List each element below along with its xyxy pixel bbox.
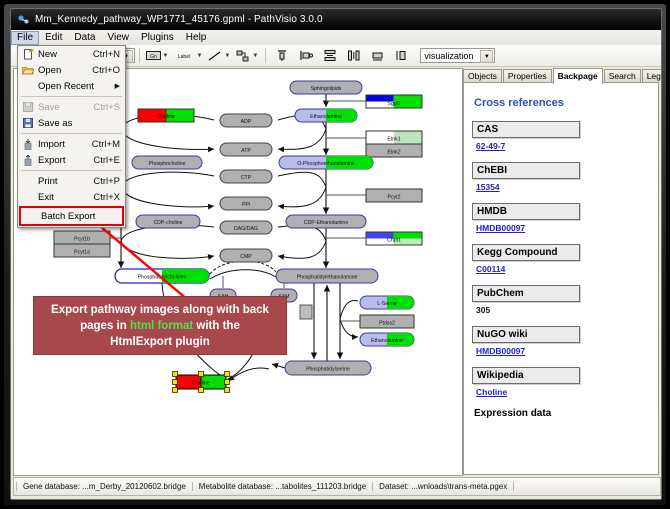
xref-value-chebi[interactable]: 15354 — [476, 182, 650, 192]
new-document-icon — [18, 49, 38, 60]
pathvisio-app-icon — [17, 13, 30, 26]
menu-separator — [21, 170, 122, 171]
svg-text:Sgpl1: Sgpl1 — [387, 101, 400, 107]
backpage-panel[interactable]: Cross references CAS 62-49-7 ChEBI 15354… — [463, 82, 659, 475]
svg-text:Gn: Gn — [150, 54, 157, 60]
callout-line-2c: with the — [193, 320, 240, 332]
menu-item-batch-export-label: Batch Export — [41, 211, 122, 222]
same-height-icon[interactable] — [394, 48, 410, 64]
menu-item-print-label: Print — [38, 176, 93, 187]
menu-item-print-accel: Ctrl+P — [93, 176, 125, 187]
expression-data-heading: Expression data — [474, 408, 650, 419]
tab-objects[interactable]: Objects — [463, 69, 502, 83]
xref-value-pubchem: 305 — [476, 305, 650, 315]
tab-properties[interactable]: Properties — [503, 69, 552, 83]
menu-view[interactable]: View — [101, 31, 135, 45]
menu-item-open-recent-label: Open Recent — [38, 81, 115, 92]
menu-item-export[interactable]: Export Ctrl+E — [18, 152, 125, 168]
menu-separator — [21, 133, 122, 134]
menu-separator — [21, 96, 122, 97]
metabolite-cmp: CMP — [220, 249, 272, 262]
svg-text:O-Phosphoethanolamine: O-Phosphoethanolamine — [297, 161, 355, 167]
metabolite-cdp-choline: CDP-choline — [136, 215, 200, 228]
metabolite-phosphatidylserine: Phosphatidylserine — [285, 361, 371, 375]
chevron-down-icon[interactable]: ▼ — [480, 50, 493, 63]
visualization-combo[interactable]: visualization ▼ — [420, 48, 495, 63]
metabolite-l-serine: L-Serine — [360, 296, 414, 309]
svg-text:Pcyt1a: Pcyt1a — [74, 250, 90, 256]
xref-value-cas[interactable]: 62-49-7 — [476, 141, 650, 151]
xref-db-pubchem: PubChem — [472, 285, 580, 302]
svg-text:CDP-Ethanolamine: CDP-Ethanolamine — [304, 220, 349, 226]
screenshot-root: Mm_Kennedy_pathway_WP1771_45176.gpml - P… — [0, 0, 670, 509]
svg-text:Etnk1: Etnk1 — [387, 137, 400, 143]
metabolite-adp: ADP — [220, 114, 272, 127]
status-metabolite-database: Metabolite database: ...tabolites_111203… — [193, 482, 373, 491]
gene-box-chpt1: Chpt1 — [366, 232, 422, 245]
xref-db-hmdb: HMDB — [472, 203, 580, 220]
tab-search[interactable]: Search — [604, 69, 641, 83]
metabolite-sphingolipids: Sphingolipids — [290, 81, 362, 94]
menu-edit[interactable]: Edit — [39, 31, 68, 45]
align-left-icon[interactable] — [298, 48, 314, 64]
svg-text:Chpt1: Chpt1 — [387, 238, 401, 244]
datanode-tool-icon[interactable]: Gn — [146, 48, 162, 64]
xref-db-kegg-compound: Kegg Compound — [472, 244, 580, 261]
menu-item-exit[interactable]: Exit Ctrl+X — [18, 189, 125, 205]
menu-item-export-label: Export — [38, 155, 93, 166]
metabolite-choline-bottom-selected: Choline — [173, 372, 230, 393]
xref-value-hmdb[interactable]: HMDB00097 — [476, 223, 650, 233]
menu-help[interactable]: Help — [180, 31, 213, 45]
menu-item-exit-label: Exit — [38, 192, 93, 203]
xref-db-nugo-wiki: NuGO wiki — [472, 326, 580, 343]
svg-text:CTP: CTP — [241, 175, 252, 181]
annotation-callout-text: Export pathway images along with back pa… — [45, 302, 275, 350]
chevron-down-icon[interactable]: ▼ — [163, 53, 169, 59]
align-top-icon[interactable] — [274, 48, 290, 64]
open-folder-icon — [18, 65, 38, 75]
menu-item-import[interactable]: Import Ctrl+M — [18, 136, 125, 152]
status-dataset: Dataset: ...wnloads\trans-meta.pgex — [373, 482, 514, 491]
metabolite-phosphatidylcholines: Phosphatidylcholines — [115, 269, 209, 283]
metabolite-cdp-ethanolamine: CDP-Ethanolamine — [286, 215, 366, 228]
svg-text:Ethanolamine: Ethanolamine — [371, 338, 403, 344]
svg-text:CMP: CMP — [240, 254, 252, 260]
import-icon — [18, 139, 38, 150]
metabolite-dagdag: DAG/DAG — [220, 221, 272, 234]
gene-box-etnk2: Etnk2 — [366, 144, 422, 157]
menu-item-new[interactable]: New Ctrl+N — [18, 46, 125, 62]
svg-text:Phosphatidylserine: Phosphatidylserine — [306, 367, 350, 373]
chevron-down-icon[interactable]: ▼ — [196, 53, 202, 59]
chevron-right-icon: ▶ — [115, 82, 125, 90]
menu-item-open-label: Open — [38, 65, 92, 76]
svg-text:PPi: PPi — [242, 202, 250, 208]
menu-item-import-label: Import — [38, 139, 92, 150]
chevron-down-icon[interactable]: ▼ — [224, 53, 230, 59]
gene-box-pcyt2: Pcyt2 — [366, 189, 422, 202]
tab-backpage[interactable]: Backpage — [553, 68, 603, 84]
metabolite-phosphocholine: Phosphocholine — [132, 156, 202, 169]
svg-text:Choline: Choline — [192, 381, 210, 387]
cross-references-heading: Cross references — [474, 97, 650, 109]
svg-text:Pcyt1b: Pcyt1b — [74, 237, 90, 243]
svg-text:Choline: Choline — [157, 114, 175, 120]
gene-box-pcyt1a: Pcyt1a — [54, 244, 110, 257]
gene-box-ptdss2: Ptdss2 — [360, 315, 414, 328]
svg-text:CDP-choline: CDP-choline — [153, 220, 182, 226]
svg-text:Phosphocholine: Phosphocholine — [149, 161, 186, 167]
label-tool-icon[interactable]: Label — [173, 48, 195, 64]
sidebar-tabs[interactable]: Objects Properties Backpage Search Legen… — [463, 68, 659, 83]
save-as-icon — [18, 118, 38, 128]
menu-plugins[interactable]: Plugins — [135, 31, 180, 45]
distribute-horizontal-icon[interactable] — [346, 48, 362, 64]
svg-text:Sphingolipids: Sphingolipids — [311, 86, 342, 92]
svg-text:Label: Label — [178, 54, 190, 60]
svg-text:Ethanolamine: Ethanolamine — [310, 114, 342, 120]
same-width-icon[interactable] — [370, 48, 386, 64]
gene-box-etnk1: Etnk1 — [366, 131, 422, 144]
metabolite-ethanolamine-top: Ethanolamine — [295, 109, 357, 122]
export-icon — [18, 155, 38, 166]
menu-item-save-accel: Ctrl+S — [93, 102, 125, 113]
window-title: Mm_Kennedy_pathway_WP1771_45176.gpml - P… — [35, 14, 323, 25]
toolbar-separator — [265, 48, 266, 63]
svg-text:DAG/DAG: DAG/DAG — [234, 226, 258, 232]
menu-item-new-accel: Ctrl+N — [93, 49, 125, 60]
xref-value-wikipedia[interactable]: Choline — [476, 387, 650, 397]
menu-item-save-as-label: Save as — [38, 118, 120, 129]
menu-item-open-recent[interactable]: Open Recent ▶ — [18, 78, 125, 94]
tab-legend[interactable]: Legend — [642, 69, 662, 83]
svg-text:Etnk2: Etnk2 — [387, 150, 400, 156]
save-disk-icon — [18, 102, 38, 112]
svg-text:Pcyt2: Pcyt2 — [388, 195, 401, 201]
menu-item-new-label: New — [38, 49, 93, 60]
menu-item-batch-export[interactable]: Batch Export — [19, 206, 124, 226]
callout-highlight: html format — [130, 320, 193, 332]
metabolite-choline-top: Choline — [138, 109, 194, 122]
xref-value-kegg-compound[interactable]: C00114 — [476, 264, 650, 274]
svg-text:ADP: ADP — [241, 119, 252, 125]
svg-text:Ptdss2: Ptdss2 — [379, 321, 395, 327]
menu-item-export-accel: Ctrl+E — [93, 155, 125, 166]
callout-line-1: Export pathway images along with back — [51, 304, 269, 316]
svg-text:L-Serine: L-Serine — [377, 301, 397, 307]
metabolite-ctp: CTP — [220, 170, 272, 183]
gene-box-sgpl1: Sgpl1 — [366, 95, 422, 108]
menu-item-exit-accel: Ctrl+X — [93, 192, 125, 203]
callout-line-3: HtmlExport plugin — [110, 336, 210, 348]
metabolite-atp: ATP — [220, 143, 272, 156]
interaction-tool-icon[interactable] — [235, 48, 251, 64]
xref-db-wikipedia: Wikipedia — [472, 367, 580, 384]
callout-line-2a: pages in — [80, 320, 130, 332]
title-bar: Mm_Kennedy_pathway_WP1771_45176.gpml - P… — [11, 9, 661, 30]
chevron-down-icon[interactable]: ▼ — [252, 53, 258, 59]
menu-item-import-accel: Ctrl+M — [92, 139, 125, 150]
menu-item-open-accel: Ctrl+O — [92, 65, 125, 76]
metabolite-o-phosphoethanolamine: O-Phosphoethanolamine — [279, 156, 373, 169]
gene-box-pcyt1b: Pcyt1b — [54, 231, 110, 244]
metabolite-phosphatidylethanolamine: Phosphatidylethanolamine — [276, 269, 378, 283]
menu-item-save[interactable]: Save Ctrl+S — [18, 99, 125, 115]
menu-bar[interactable]: File Edit Data View Plugins Help — [11, 30, 661, 46]
xref-db-cas: CAS — [472, 121, 580, 138]
metabolite-ethanolamine-bottom: Ethanolamine — [360, 333, 414, 346]
svg-text:ATP: ATP — [241, 148, 251, 154]
toolbar-separator — [139, 48, 140, 63]
visualization-value: visualization — [424, 51, 473, 61]
xref-value-nugo-wiki[interactable]: HMDB00097 — [476, 346, 650, 356]
annotation-callout: Export pathway images along with back pa… — [33, 296, 287, 355]
side-panel: Objects Properties Backpage Search Legen… — [463, 68, 659, 474]
menu-item-save-label: Save — [38, 102, 93, 113]
menu-item-open[interactable]: Open Ctrl+O — [18, 62, 125, 78]
menu-item-print[interactable]: Print Ctrl+P — [18, 173, 125, 189]
svg-text:Phosphatidylethanolamine: Phosphatidylethanolamine — [297, 275, 358, 281]
menu-data[interactable]: Data — [68, 31, 101, 45]
status-bar: Gene database: ...m_Derby_20120602.bridg… — [13, 477, 661, 496]
menu-file[interactable]: File — [11, 31, 39, 45]
file-menu-dropdown[interactable]: New Ctrl+N Open Ctrl+O Open Recent ▶ Sav… — [17, 45, 126, 228]
menu-item-save-as[interactable]: Save as — [18, 115, 125, 131]
distribute-vertical-icon[interactable] — [322, 48, 338, 64]
metabolite-ppi: PPi — [220, 197, 272, 210]
xref-db-chebi: ChEBI — [472, 162, 580, 179]
pathvisio-window: Mm_Kennedy_pathway_WP1771_45176.gpml - P… — [10, 8, 662, 500]
status-gene-database: Gene database: ...m_Derby_20120602.bridg… — [16, 482, 193, 491]
line-tool-icon[interactable] — [207, 48, 223, 64]
anchor-block — [300, 305, 312, 319]
